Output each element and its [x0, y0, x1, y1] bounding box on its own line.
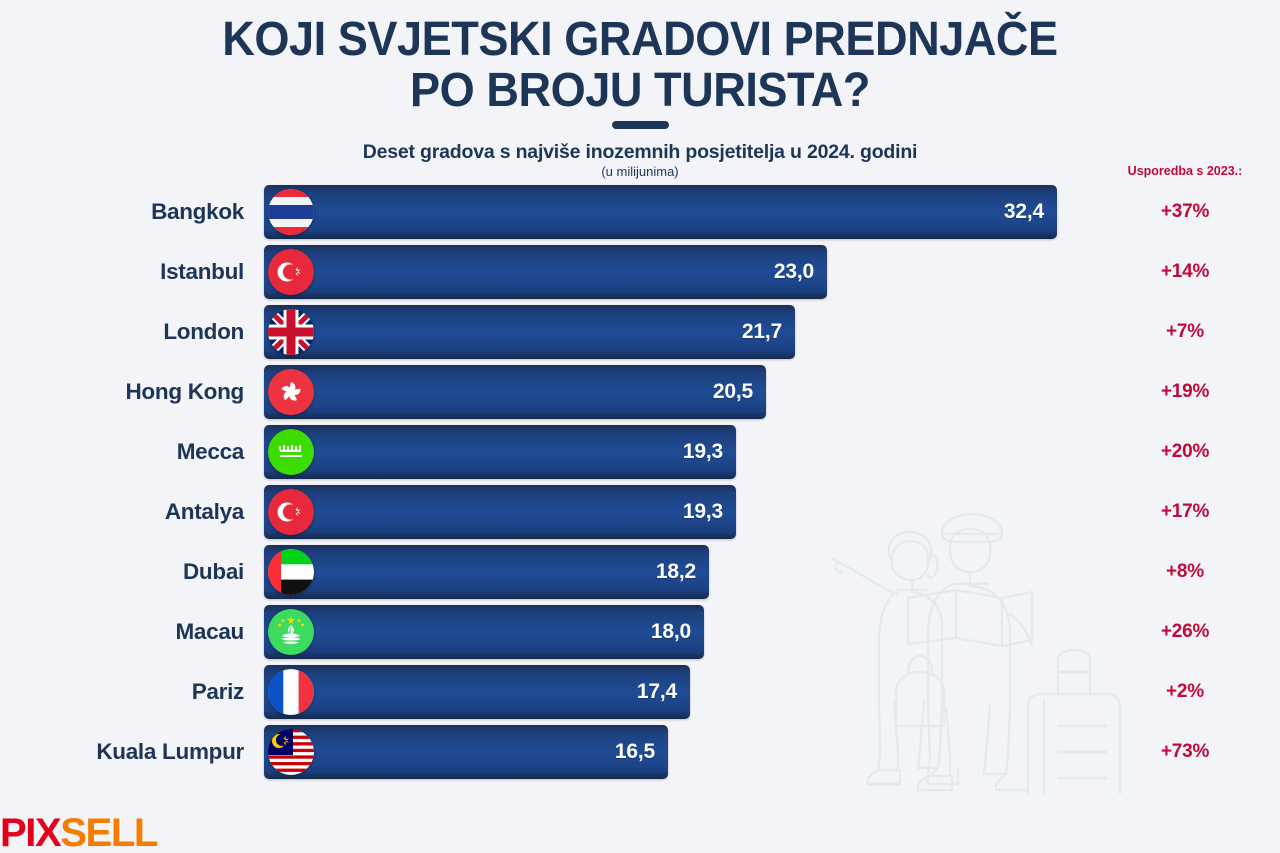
value-bar: 17,4: [264, 665, 690, 719]
chart-row: London21,7 +7%: [0, 305, 1280, 365]
title-divider: [612, 121, 669, 129]
bar-value-label: 16,5: [615, 740, 668, 764]
comparison-value: +20%: [1090, 425, 1280, 479]
flag-icon-united-kingdom: [268, 309, 314, 355]
comparison-value: +7%: [1090, 305, 1280, 359]
flag-icon-france: [268, 669, 314, 715]
comparison-value: +73%: [1090, 725, 1280, 779]
city-label: Dubai: [0, 545, 244, 599]
flag-icon-hong-kong: [268, 369, 314, 415]
value-bar: 32,4: [264, 185, 1057, 239]
bar-value-label: 23,0: [774, 260, 827, 284]
flag-icon-united-arab-emirates: [268, 549, 314, 595]
value-bar: 18,0: [264, 605, 704, 659]
city-label: Antalya: [0, 485, 244, 539]
chart-subtitle: Deset gradova s najviše inozemnih posjet…: [0, 141, 1280, 164]
value-bar: 23,0: [264, 245, 827, 299]
city-label: Mecca: [0, 425, 244, 479]
chart-row: Dubai18,2 +8%: [0, 545, 1280, 605]
comparison-value: +19%: [1090, 365, 1280, 419]
city-label: Hong Kong: [0, 365, 244, 419]
chart-row: Pariz17,4 +2%: [0, 665, 1280, 725]
city-label: London: [0, 305, 244, 359]
value-bar: 20,5: [264, 365, 766, 419]
bar-value-label: 32,4: [1004, 200, 1057, 224]
flag-icon-saudi-arabia: [268, 429, 314, 475]
chart-row: Mecca19,3 +20%: [0, 425, 1280, 485]
chart-row: Bangkok32,4 +37%: [0, 185, 1280, 245]
bar-chart: Bangkok32,4 +37%Istanbul23,0 +14%London2…: [0, 185, 1280, 785]
chart-row: Macau18,0 +26%: [0, 605, 1280, 665]
city-label: Macau: [0, 605, 244, 659]
flag-icon-turkey: [268, 249, 314, 295]
flag-icon-macau: [268, 609, 314, 655]
comparison-value: +2%: [1090, 665, 1280, 719]
flag-icon-malaysia: [268, 729, 314, 775]
comparison-value: +17%: [1090, 485, 1280, 539]
pixsell-logo: PIXSELL: [0, 813, 157, 853]
bar-value-label: 18,0: [651, 620, 704, 644]
value-bar: 19,3: [264, 425, 736, 479]
flag-icon-thailand: [268, 189, 314, 235]
chart-unit-note: (u milijunima): [0, 164, 1280, 179]
chart-row: Antalya19,3 +17%: [0, 485, 1280, 545]
comparison-value: +14%: [1090, 245, 1280, 299]
logo-pix: PIX: [0, 811, 60, 853]
comparison-value: +26%: [1090, 605, 1280, 659]
comparison-column-header: Usporedba s 2023.:: [1090, 164, 1280, 178]
city-label: Kuala Lumpur: [0, 725, 244, 779]
value-bar: 16,5: [264, 725, 668, 779]
chart-row: Istanbul23,0 +14%: [0, 245, 1280, 305]
logo-sell: SELL: [60, 811, 157, 853]
value-bar: 21,7: [264, 305, 795, 359]
city-label: Bangkok: [0, 185, 244, 239]
bar-value-label: 17,4: [637, 680, 690, 704]
comparison-value: +8%: [1090, 545, 1280, 599]
chart-row: Kuala Lumpur16,5 +73%: [0, 725, 1280, 785]
chart-row: Hong Kong20,5 +19%: [0, 365, 1280, 425]
city-label: Istanbul: [0, 245, 244, 299]
title-line-2: PO BROJU TURISTA?: [38, 65, 1241, 116]
bar-value-label: 19,3: [683, 440, 736, 464]
value-bar: 18,2: [264, 545, 709, 599]
page-title: KOJI SVJETSKI GRADOVI PREDNJAČE PO BROJU…: [38, 14, 1241, 117]
flag-icon-turkey: [268, 489, 314, 535]
bar-value-label: 18,2: [656, 560, 709, 584]
infographic-root: KOJI SVJETSKI GRADOVI PREDNJAČE PO BROJU…: [0, 0, 1280, 853]
bar-value-label: 20,5: [713, 380, 766, 404]
comparison-value: +37%: [1090, 185, 1280, 239]
city-label: Pariz: [0, 665, 244, 719]
bar-value-label: 19,3: [683, 500, 736, 524]
value-bar: 19,3: [264, 485, 736, 539]
title-line-1: KOJI SVJETSKI GRADOVI PREDNJAČE: [222, 13, 1057, 66]
bar-value-label: 21,7: [742, 320, 795, 344]
